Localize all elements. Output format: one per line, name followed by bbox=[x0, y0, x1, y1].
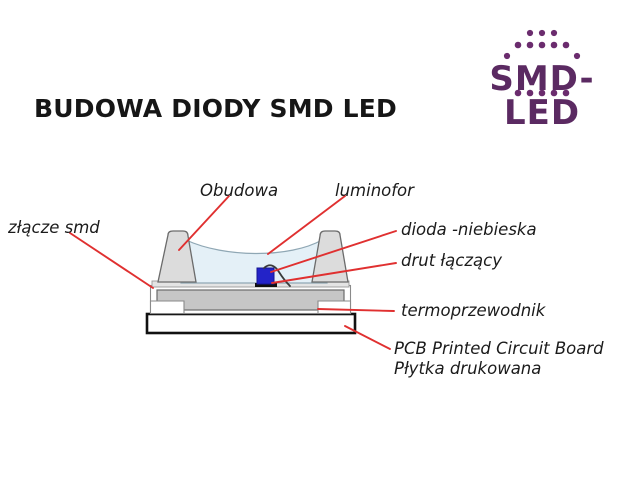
label-drut-laczacy: drut łączący bbox=[401, 251, 502, 270]
label-zlacze-smd: złącze smd bbox=[8, 218, 100, 237]
smd-pad-right bbox=[318, 301, 351, 314]
leader-obudowa bbox=[179, 196, 229, 250]
label-luminofor: luminofor bbox=[335, 181, 414, 200]
label-dioda-niebieska: dioda -niebieska bbox=[401, 220, 537, 239]
label-obudowa: Obudowa bbox=[200, 181, 278, 200]
smd-led-cross-section-diagram bbox=[0, 0, 640, 480]
slide-canvas: SMD-LED BUDOWA DIODY SMD LED bbox=[0, 0, 640, 480]
thermal-conductor-slab bbox=[157, 290, 344, 310]
label-pcb-printed-circuit-board: PCB Printed Circuit Board bbox=[394, 339, 604, 358]
label-termoprzewodnik: termoprzewodnik bbox=[401, 301, 545, 320]
smd-pad-left bbox=[151, 301, 185, 314]
pcb-board bbox=[147, 314, 355, 333]
label-plytka-drukowana: Płytka drukowana bbox=[394, 359, 541, 378]
leader-zlacze-smd bbox=[70, 233, 153, 288]
led-die-blue-chip bbox=[257, 268, 274, 284]
leader-pcb bbox=[345, 326, 390, 349]
